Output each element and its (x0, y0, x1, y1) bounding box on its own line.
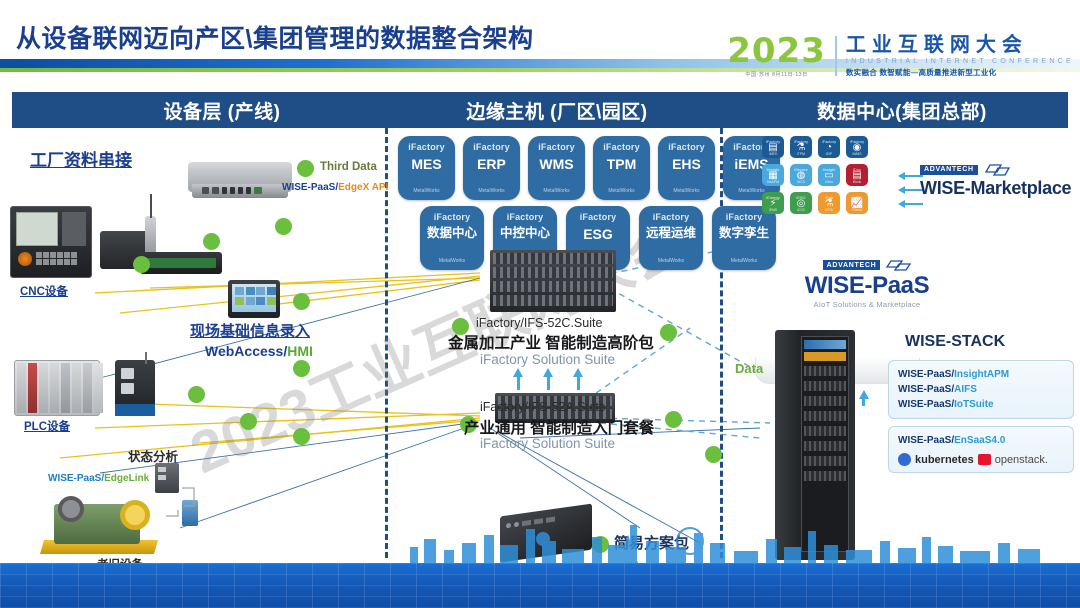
page-title: 从设备联网迈向产区\集团管理的数据整合架构 (16, 19, 533, 55)
wise-stack-item[interactable]: WISE-PaaS/EnSaaS4.0 (898, 433, 1064, 448)
ifactory-card-name: 数字孪生 (719, 227, 769, 240)
ifactory-card-brand: iFactory (538, 142, 575, 152)
app-tile-bottom-label: iTPM (790, 152, 812, 156)
ifactory-card-brand: iFactory (434, 212, 471, 222)
wise-marketplace-name: WISE-Marketplace (920, 178, 1071, 199)
app-tile-iems[interactable]: iEnergy⚡iEMS (762, 192, 784, 214)
app-tile-insapm[interactable]: iInsight▦InsAPM (762, 164, 784, 186)
app-tile-bottom-label: iEIP (818, 152, 840, 156)
app-tile-bottom-label: iWMS (846, 152, 868, 156)
city-skyline-graphic (0, 517, 1080, 563)
ifactory-card-name: WMS (539, 157, 573, 172)
logo-year: 2023 (727, 34, 826, 68)
wise-stack-prefix: WISE-PaaS/ (898, 369, 954, 380)
app-tile-bottom-label: iMES (762, 152, 784, 156)
ifactory-card-erp[interactable]: iFactoryERPMetalWorks (463, 136, 520, 200)
kubernetes-icon (898, 453, 911, 466)
green-node-suite-entry-right (665, 411, 682, 428)
column-header-bar: 设备层 (产线) 边缘主机 (厂区\园区) 数据中心(集团总部) (12, 92, 1068, 128)
wise-stack-title: WISE-STACK (905, 333, 1005, 351)
suite-high-subtitle: iFactory Solution Suite (480, 352, 615, 367)
ifactory-card-vendor: MetalWorks (731, 258, 757, 264)
diagram-canvas: 2023工业互联网大会 工厂资料串接 Third Data WISE-PaaS/… (0, 128, 1080, 608)
ifactory-card-vendor: MetalWorks (608, 188, 634, 194)
ifactory-card-vendor: MetalWorks (439, 258, 465, 264)
data-flow-label: Data (735, 361, 763, 376)
app-tile-bottom-label: iView (818, 180, 840, 184)
ifactory-card-brand: iFactory (507, 212, 544, 222)
app-tile-bottom-label: iCO2 (790, 208, 812, 212)
green-node-device-4 (293, 293, 310, 310)
wise-stack-suffix: IoTSuite (954, 399, 993, 410)
ifactory-card-tpm[interactable]: iFactoryTPMMetalWorks (593, 136, 650, 200)
suite-high-title: 金属加工产业 智能制造高阶包 (448, 331, 654, 353)
green-node-device-7 (293, 428, 310, 445)
ifactory-card-数字孪生[interactable]: iFactory数字孪生MetalWorks (712, 206, 776, 270)
column-header-device-layer: 设备层 (产线) (72, 92, 372, 128)
app-tile-iview[interactable]: iInsight▭iView (818, 164, 840, 186)
ifactory-card-vendor: MetalWorks (673, 188, 699, 194)
logo-conference-cn: 工业互联网大会 (846, 35, 1074, 56)
marketplace-arrow-2 (898, 186, 905, 194)
wise-stack-item[interactable]: WISE-PaaS/InsightAPM (898, 367, 1064, 382)
ifactory-card-wms[interactable]: iFactoryWMSMetalWorks (528, 136, 585, 200)
app-tile-bottom-label: iTrend (846, 208, 868, 212)
suite-arrow-stem-2 (547, 376, 550, 390)
wise-stack-prefix: WISE-PaaS/ (898, 435, 954, 446)
ifactory-card-name: ESG (583, 227, 613, 242)
app-tile-ico2[interactable]: iESG◎iCO2 (790, 192, 812, 214)
green-node-device-8 (293, 360, 310, 377)
wise-stack-prefix: WISE-PaaS/ (898, 384, 954, 395)
ifactory-card-name: MES (411, 157, 441, 172)
ifactory-card-brand: iFactory (580, 212, 617, 222)
marketplace-arrow-1 (898, 172, 905, 180)
ifactory-card-数据中心[interactable]: iFactory数据中心MetalWorks (420, 206, 484, 270)
ifactory-card-brand: iFactory (668, 142, 705, 152)
ifactory-card-brand: iFactory (653, 212, 690, 222)
advantech-mark-icon (983, 162, 1011, 177)
app-tile-imes[interactable]: iFactory▤iMES (762, 136, 784, 158)
ifactory-card-vendor: MetalWorks (413, 188, 439, 194)
marketplace-arrow-3 (898, 200, 905, 208)
hmi-section-title: 现场基础信息录入 (190, 320, 310, 341)
app-tile-bottom-label: iBook (846, 180, 868, 184)
kubernetes-label: kubernetes (915, 454, 974, 466)
wise-stack-group-1: WISE-PaaS/InsightAPMWISE-PaaS/AIFSWISE-P… (888, 360, 1074, 419)
plc-device-label: PLC设备 (24, 418, 70, 434)
column-header-data-center: 数据中心(集团总部) (752, 92, 1052, 128)
third-data-label: Third Data (320, 161, 377, 173)
wise-stack-item[interactable]: WISE-PaaS/IoTSuite (898, 397, 1064, 412)
suite-arrow-stem-1 (517, 376, 520, 390)
ifactory-card-vendor: MetalWorks (738, 188, 764, 194)
logo-divider (835, 36, 837, 76)
suite-arrow-2 (543, 368, 553, 377)
wise-marketplace-logo: ADVANTECH WISE-Marketplace (920, 162, 1071, 199)
ifactory-card-brand: iFactory (603, 142, 640, 152)
wise-stack-suffix: AIFS (954, 384, 977, 395)
green-node-device-6 (240, 413, 257, 430)
openstack-icon (978, 454, 991, 465)
wise-stack-item[interactable]: WISE-PaaS/AIFS (898, 382, 1064, 397)
green-node-device-2 (203, 233, 220, 250)
advantech-mark-icon-paas (885, 258, 911, 272)
green-node-datacenter (705, 446, 722, 463)
ifactory-card-远程运维[interactable]: iFactory远程运维MetalWorks (639, 206, 703, 270)
ifactory-card-name: TPM (607, 157, 637, 172)
logo-conference-en: INDUSTRIAL INTERNET CONFERENCE (846, 58, 1074, 65)
app-tile-bottom-label: InsAPM (762, 180, 784, 184)
footer-grid-band (0, 563, 1080, 608)
openstack-label: openstack. (995, 454, 1048, 466)
wise-paas-tagline: AIoT Solutions & Marketplace (782, 300, 952, 309)
marketplace-arrow-stem-3 (905, 203, 923, 205)
edgex-api-label: WISE-PaaS/EdgeX API (282, 182, 388, 193)
app-tile-ibook[interactable]: iDoc▤iBook (846, 164, 868, 186)
wise-stack-suffix: EnSaaS4.0 (954, 435, 1005, 446)
advantech-wordmark-paas: ADVANTECH (823, 260, 881, 270)
ifactory-card-name: ERP (477, 157, 506, 172)
wise-stack-platforms: kubernetesopenstack. (898, 453, 1064, 466)
app-tile-itpm[interactable]: iFactory⚗iTPM (790, 136, 812, 158)
green-node-suite-high-right (660, 324, 677, 341)
divider-edge-datacenter (720, 128, 723, 558)
suite-arrow-1 (513, 368, 523, 377)
edgelink-label: WISE-PaaS/EdgeLink (48, 473, 149, 484)
device-layer-section-title: 工厂资料串接 (30, 146, 132, 171)
page-header: 从设备联网迈向产区\集团管理的数据整合架构 2023 中国·苏州 8月11日-1… (0, 0, 1080, 90)
app-tile-bottom-label: iCFB (818, 208, 840, 212)
app-tile-bottom-label: iEMS (762, 208, 784, 212)
green-node-device-1 (133, 256, 150, 273)
webaccess-hmi-label: WebAccess/HMI (205, 343, 313, 359)
suite-arrow-stem-3 (577, 376, 580, 390)
ifactory-card-brand: iFactory (473, 142, 510, 152)
ifactory-card-name: 中控中心 (500, 227, 550, 240)
ifactory-card-vendor: MetalWorks (658, 258, 684, 264)
app-tile-itrend[interactable]: iKPI📈iTrend (846, 192, 868, 214)
ifactory-card-name: EHS (672, 157, 701, 172)
ifactory-card-brand: iFactory (408, 142, 445, 152)
suite-entry-title: 产业通用 智能制造入门套餐 (464, 416, 654, 438)
suite-entry-subtitle: iFactory Solution Suite (480, 436, 615, 451)
ifactory-card-mes[interactable]: iFactoryMESMetalWorks (398, 136, 455, 200)
cnc-device-label: CNC设备 (20, 283, 68, 299)
logo-tagline: 数实融合 数智赋能—高质量推进新型工业化 (846, 67, 1074, 78)
app-tile-iwms[interactable]: iFactory◉iWMS (846, 136, 868, 158)
wise-stack-group-2: WISE-PaaS/EnSaaS4.0kubernetesopenstack. (888, 426, 1074, 473)
wise-stack-suffix: InsightAPM (954, 369, 1009, 380)
app-tile-icfb[interactable]: iFab⚗iCFB (818, 192, 840, 214)
green-node-device-5 (188, 386, 205, 403)
ifactory-card-ehs[interactable]: iFactoryEHSMetalWorks (658, 136, 715, 200)
green-node-device-3 (275, 218, 292, 235)
ifactory-card-vendor: MetalWorks (478, 188, 504, 194)
edge-server-stack-high (490, 250, 616, 312)
ifactory-card-name: 远程运维 (646, 227, 696, 240)
wise-paas-name: WISE-PaaS (782, 272, 952, 300)
green-node-third-data (297, 160, 314, 177)
app-tile-iacs[interactable]: iSecure◍iACS (790, 164, 812, 186)
app-tile-ieip[interactable]: iFactory◔iEIP (818, 136, 840, 158)
logo-year-sub: 中国·苏州 8月11日-13日 (727, 71, 826, 78)
conference-logo: 2023 中国·苏州 8月11日-13日 工业互联网大会 INDUSTRIAL … (727, 32, 1074, 80)
wise-stack-prefix: WISE-PaaS/ (898, 399, 954, 410)
advantech-wordmark-marketplace: ADVANTECH (920, 165, 978, 175)
suite-high-code: iFactory/IFS-52C.Suite (476, 316, 602, 330)
wise-paas-logo: ADVANTECH WISE-PaaS AIoT Solutions & Mar… (782, 258, 952, 309)
app-tile-bottom-label: iACS (790, 180, 812, 184)
ifactory-card-vendor: MetalWorks (543, 188, 569, 194)
ifactory-card-name: 数据中心 (427, 227, 477, 240)
column-header-edge-host: 边缘主机 (厂区\园区) (392, 92, 722, 128)
paas-arrow-stem-3 (862, 398, 865, 406)
suite-arrow-3 (573, 368, 583, 377)
ifactory-card-brand: iFactory (726, 212, 763, 222)
suite-entry-code: iFactory/IFS-52A.Suite (480, 400, 606, 414)
